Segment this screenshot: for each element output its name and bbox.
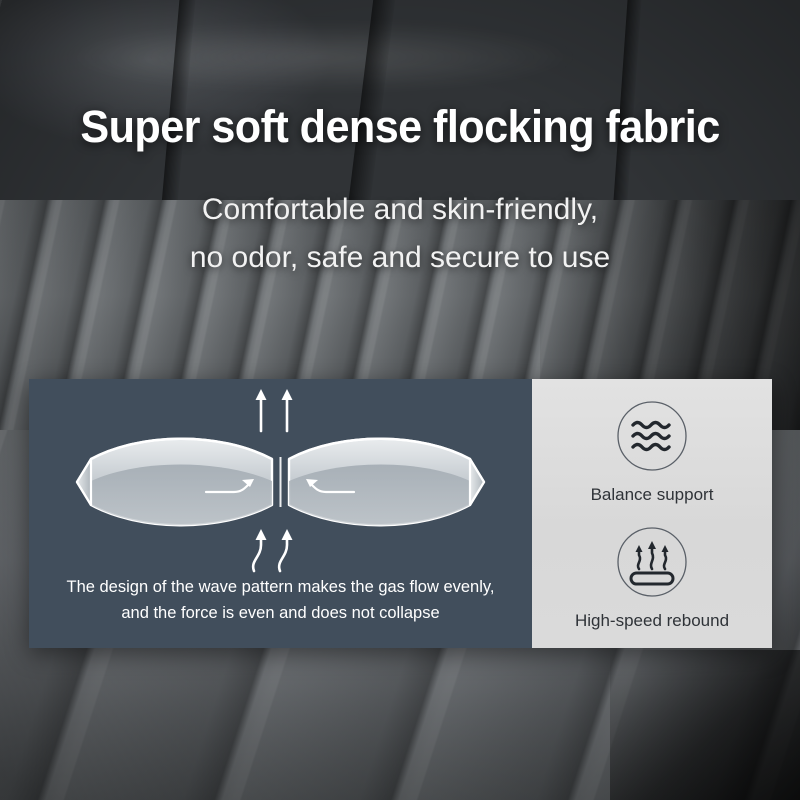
feature-balance-support: Balance support (532, 393, 772, 505)
feature-list: Balance support High-speed rebound (532, 379, 772, 648)
feature-label: Balance support (591, 485, 714, 505)
wavy-lines-icon (609, 393, 695, 479)
feature-label: High-speed rebound (575, 611, 729, 631)
rebound-arrows-mattress-icon (609, 519, 695, 605)
dual-wave-chamber-diagram (29, 387, 532, 577)
diagram-caption: The design of the wave pattern makes the… (29, 574, 532, 626)
right-chamber (289, 439, 484, 526)
gas-flow-up-arrows (256, 389, 293, 431)
subtitle-line-2: no odor, safe and secure to use (0, 234, 800, 282)
left-chamber (77, 439, 272, 526)
gas-intake-curved-arrows (253, 529, 292, 571)
subtitle-line-1: Comfortable and skin-friendly, (0, 186, 800, 234)
feature-high-speed-rebound: High-speed rebound (532, 519, 772, 631)
diagram-panel: The design of the wave pattern makes the… (29, 379, 532, 648)
page-subtitle: Comfortable and skin-friendly, no odor, … (0, 186, 800, 282)
page-title: Super soft dense flocking fabric (16, 101, 784, 153)
feature-panel: The design of the wave pattern makes the… (29, 379, 772, 648)
